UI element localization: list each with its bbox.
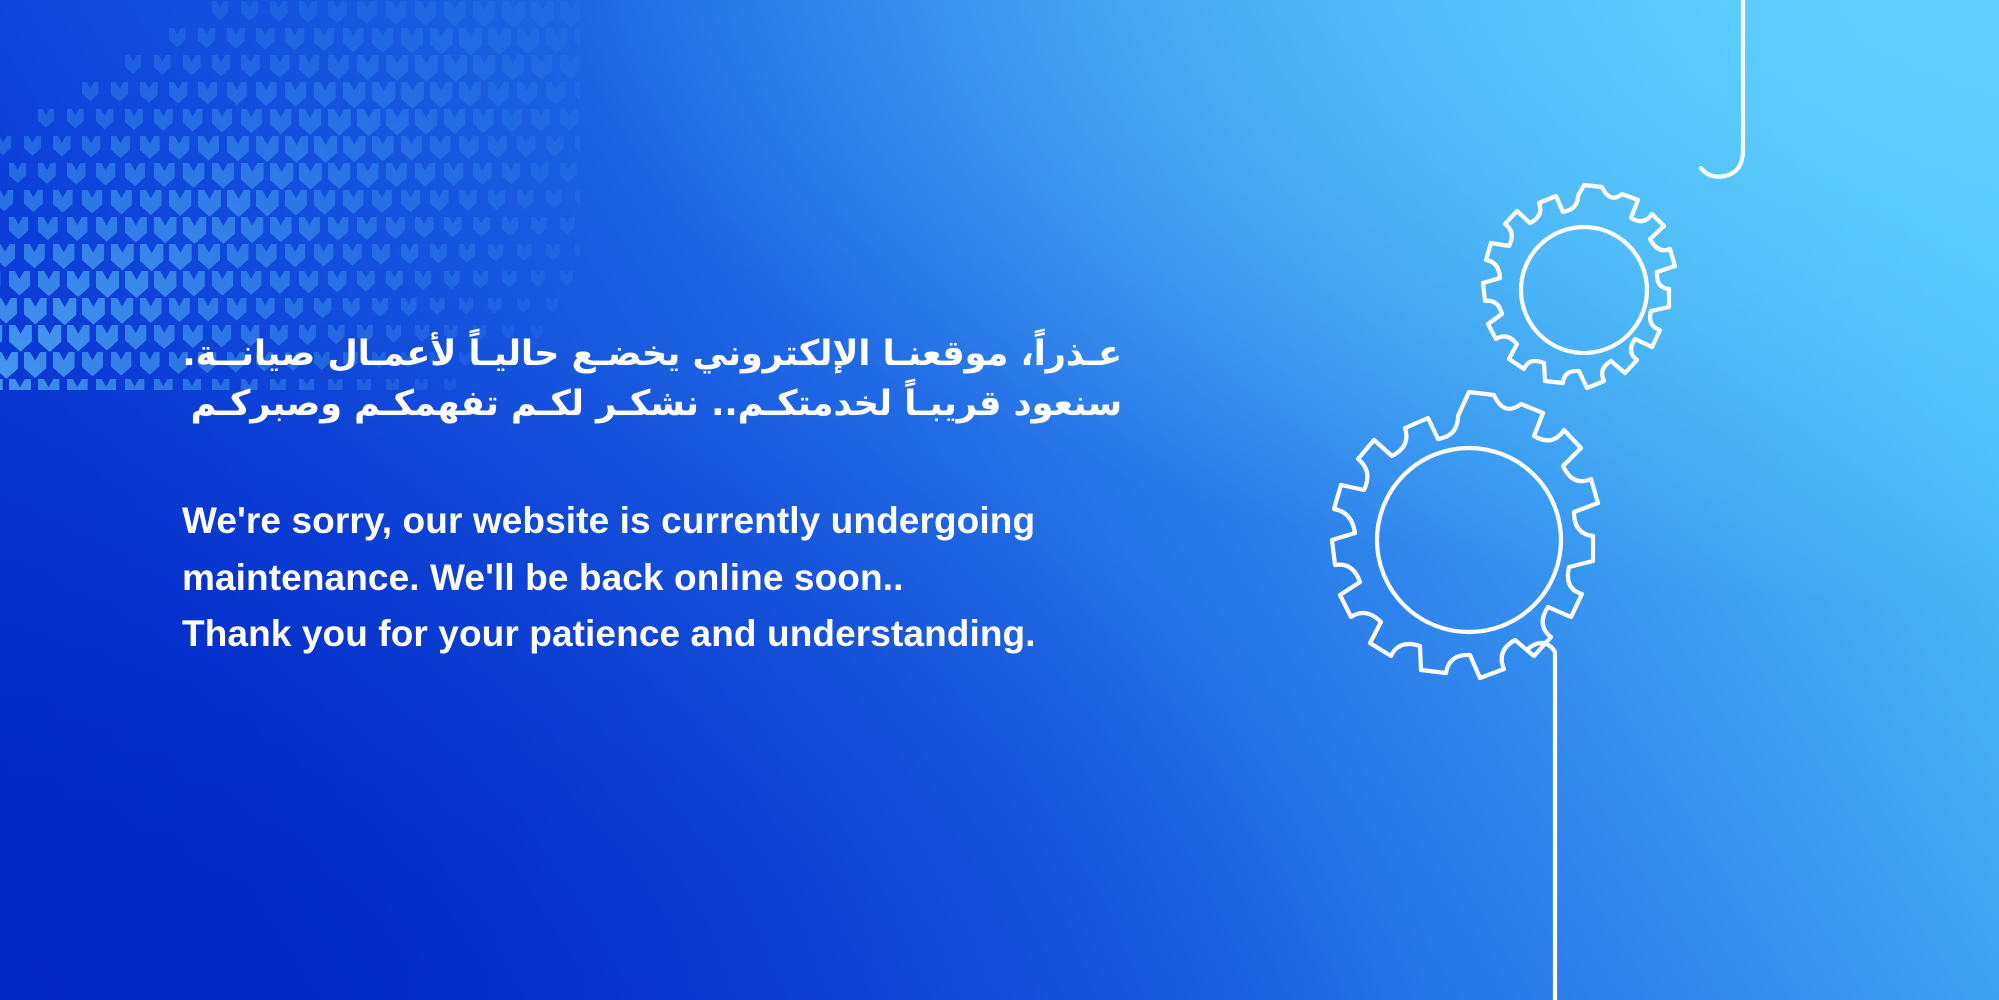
- english-line-2: maintenance. We'll be back online soon..: [182, 550, 1182, 606]
- english-line-1: We're sorry, our website is currently un…: [182, 493, 1182, 549]
- arabic-message: عـذراً، موقعنـا الإلكتروني يخضـع حاليـاً…: [182, 330, 1122, 429]
- maintenance-page: عـذراً، موقعنـا الإلكتروني يخضـع حاليـاً…: [0, 0, 1999, 1000]
- message-block: عـذراً، موقعنـا الإلكتروني يخضـع حاليـاً…: [182, 330, 1182, 662]
- arabic-line-1: عـذراً، موقعنـا الإلكتروني يخضـع حاليـاً…: [182, 330, 1122, 380]
- english-line-3: Thank you for your patience and understa…: [182, 606, 1182, 662]
- english-message: We're sorry, our website is currently un…: [182, 493, 1182, 662]
- arabic-line-2: سنعود قريبـاً لخدمتكـم.. نشكـر لكـم تفهم…: [182, 380, 1122, 430]
